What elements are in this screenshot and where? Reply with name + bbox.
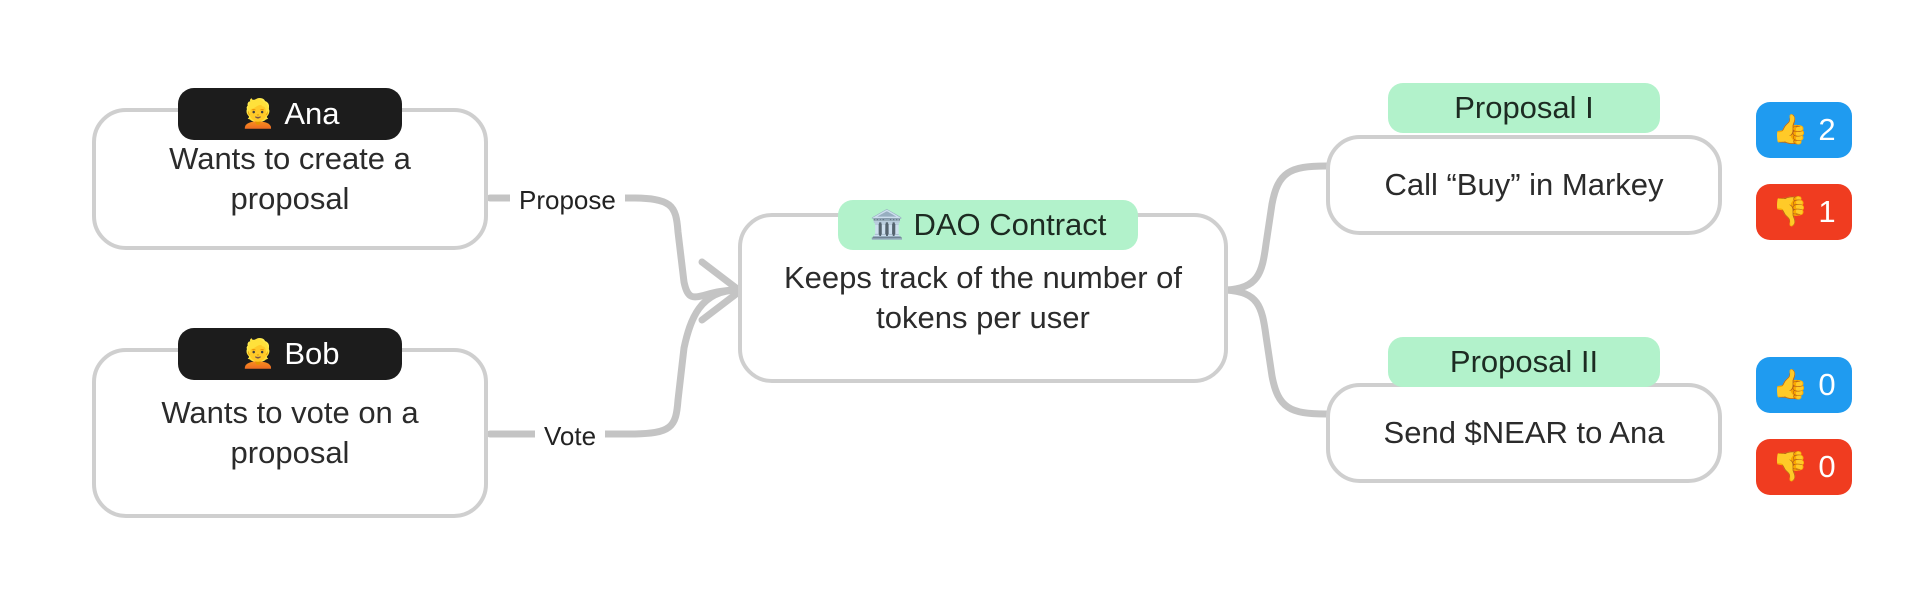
proposal-chip-2[interactable]: Proposal II bbox=[1388, 337, 1660, 387]
actor-chip-bob[interactable]: 👱 Bob bbox=[178, 328, 402, 380]
proposal-chip-label-1: Proposal I bbox=[1454, 90, 1594, 126]
actor-body-ana: Wants to create a proposal bbox=[151, 139, 429, 218]
actor-body-bob: Wants to vote on a proposal bbox=[143, 393, 436, 472]
proposal-node-2[interactable]: Send $NEAR to Ana bbox=[1326, 383, 1722, 483]
person-icon: 👱 bbox=[240, 340, 275, 368]
edge-bob-to-contract bbox=[490, 290, 738, 434]
vote-down-count-1: 1 bbox=[1818, 194, 1835, 230]
person-icon: 👱 bbox=[240, 100, 275, 128]
edge-label-propose: Propose bbox=[510, 183, 625, 218]
thumbs-up-icon: 👍 bbox=[1772, 116, 1808, 145]
contract-body: Keeps track of the number of tokens per … bbox=[766, 258, 1200, 337]
contract-chip[interactable]: 🏛️ DAO Contract bbox=[838, 200, 1138, 250]
proposal-chip-1[interactable]: Proposal I bbox=[1388, 83, 1660, 133]
edge-label-vote: Vote bbox=[535, 419, 605, 454]
contract-chip-label: DAO Contract bbox=[913, 207, 1106, 243]
vote-up-badge-2[interactable]: 👍 0 bbox=[1756, 357, 1852, 413]
proposal-body-1: Call “Buy” in Markey bbox=[1366, 165, 1681, 205]
vote-down-badge-2[interactable]: 👎 0 bbox=[1756, 439, 1852, 495]
edge-contract-to-proposal-2 bbox=[1226, 290, 1326, 414]
diagram-canvas: Wants to create a proposal 👱 Ana Wants t… bbox=[0, 0, 1906, 608]
proposal-node-1[interactable]: Call “Buy” in Markey bbox=[1326, 135, 1722, 235]
classical-building-icon: 🏛️ bbox=[870, 211, 905, 239]
proposal-body-2: Send $NEAR to Ana bbox=[1366, 413, 1683, 453]
thumbs-down-icon: 👎 bbox=[1772, 453, 1808, 482]
proposal-chip-label-2: Proposal II bbox=[1450, 344, 1598, 380]
arrowhead-contract bbox=[702, 262, 740, 320]
thumbs-up-icon: 👍 bbox=[1772, 371, 1808, 400]
actor-chip-label-ana: Ana bbox=[284, 96, 339, 132]
actor-chip-ana[interactable]: 👱 Ana bbox=[178, 88, 402, 140]
vote-up-badge-1[interactable]: 👍 2 bbox=[1756, 102, 1852, 158]
thumbs-down-icon: 👎 bbox=[1772, 198, 1808, 227]
edge-contract-to-proposal-1 bbox=[1226, 166, 1326, 290]
vote-down-count-2: 0 bbox=[1818, 449, 1835, 485]
vote-up-count-1: 2 bbox=[1818, 112, 1835, 148]
actor-chip-label-bob: Bob bbox=[284, 336, 339, 372]
vote-up-count-2: 0 bbox=[1818, 367, 1835, 403]
vote-down-badge-1[interactable]: 👎 1 bbox=[1756, 184, 1852, 240]
